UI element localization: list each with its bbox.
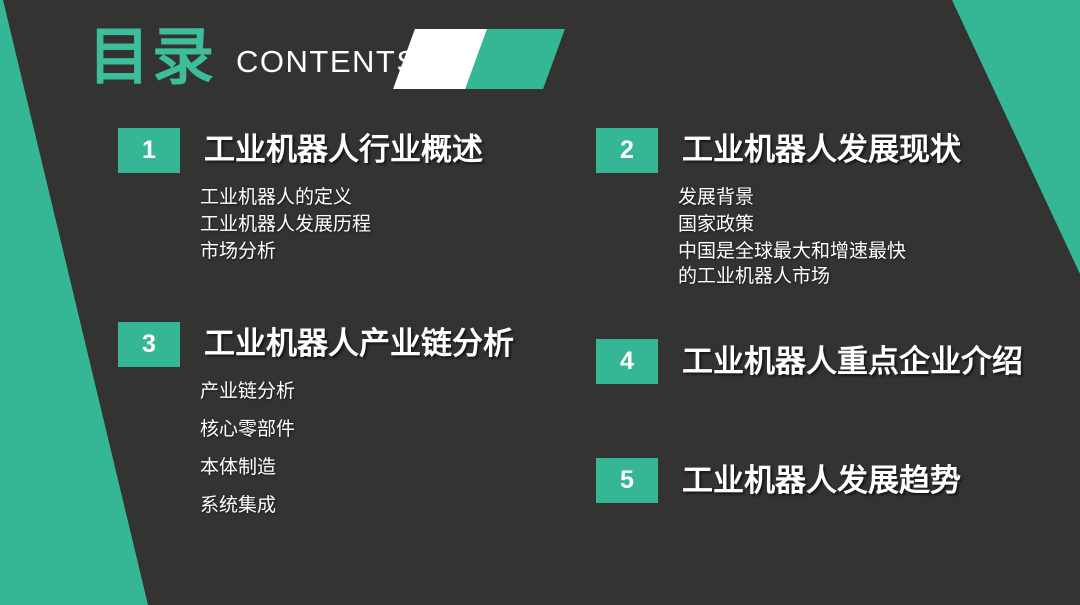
toc-subitem[interactable]: 本体制造 [200, 455, 588, 480]
toc-number-badge-3: 3 [118, 322, 180, 367]
contents-column-right: 2 工业机器人发展现状 发展背景 国家政策 中国是全球最大和增速最快 的工业机器… [596, 128, 1066, 503]
toc-subitem[interactable]: 工业机器人的定义 [200, 185, 588, 210]
toc-entry-3[interactable]: 3 工业机器人产业链分析 产业链分析 核心零部件 本体制造 系统集成 [118, 322, 588, 518]
toc-subitem[interactable]: 市场分析 [200, 239, 588, 264]
slide-header: 目录 CONTENTS [88, 18, 419, 98]
toc-subitem[interactable]: 国家政策 [678, 212, 1066, 237]
toc-entry-4[interactable]: 4 工业机器人重点企业介绍 [596, 339, 1066, 384]
toc-entry-5[interactable]: 5 工业机器人发展趋势 [596, 458, 1066, 503]
toc-sublist-2: 发展背景 国家政策 中国是全球最大和增速最快 的工业机器人市场 [678, 185, 1066, 289]
toc-number-badge-4: 4 [596, 339, 658, 384]
toc-title-4[interactable]: 工业机器人重点企业介绍 [682, 346, 1023, 379]
toc-title-3[interactable]: 工业机器人产业链分析 [204, 328, 514, 361]
toc-entry-1[interactable]: 1 工业机器人行业概述 工业机器人的定义 工业机器人发展历程 市场分析 [118, 128, 588, 264]
toc-subitem[interactable]: 工业机器人发展历程 [200, 212, 588, 237]
toc-entry-2[interactable]: 2 工业机器人发展现状 发展背景 国家政策 中国是全球最大和增速最快 的工业机器… [596, 128, 1066, 289]
toc-number-badge-2: 2 [596, 128, 658, 173]
toc-subitem[interactable]: 发展背景 [678, 185, 1066, 210]
page-title-en: CONTENTS [236, 44, 419, 80]
toc-title-1[interactable]: 工业机器人行业概述 [204, 134, 483, 167]
toc-number-badge-5: 5 [596, 458, 658, 503]
toc-sublist-3: 产业链分析 核心零部件 本体制造 系统集成 [200, 379, 588, 518]
toc-sublist-1: 工业机器人的定义 工业机器人发展历程 市场分析 [200, 185, 588, 264]
toc-subitem[interactable]: 中国是全球最大和增速最快 的工业机器人市场 [678, 239, 1066, 289]
header-decoration-group [396, 29, 566, 89]
toc-subitem[interactable]: 核心零部件 [200, 417, 588, 442]
toc-entry-3-head[interactable]: 3 工业机器人产业链分析 [118, 322, 588, 367]
toc-title-2[interactable]: 工业机器人发展现状 [682, 134, 961, 167]
toc-subitem[interactable]: 产业链分析 [200, 379, 588, 404]
toc-subitem[interactable]: 系统集成 [200, 493, 588, 518]
toc-number-badge-1: 1 [118, 128, 180, 173]
toc-entry-2-head[interactable]: 2 工业机器人发展现状 [596, 128, 1066, 173]
toc-entry-5-head[interactable]: 5 工业机器人发展趋势 [596, 458, 1066, 503]
toc-entry-1-head[interactable]: 1 工业机器人行业概述 [118, 128, 588, 173]
contents-column-left: 1 工业机器人行业概述 工业机器人的定义 工业机器人发展历程 市场分析 3 工业… [118, 128, 588, 532]
toc-entry-4-head[interactable]: 4 工业机器人重点企业介绍 [596, 339, 1066, 384]
toc-title-5[interactable]: 工业机器人发展趋势 [682, 465, 961, 498]
page-title-cn: 目录 [88, 27, 216, 89]
contents-slide: 目录 CONTENTS 1 工业机器人行业概述 工业机器人的定义 工业机器人发展… [0, 0, 1080, 605]
